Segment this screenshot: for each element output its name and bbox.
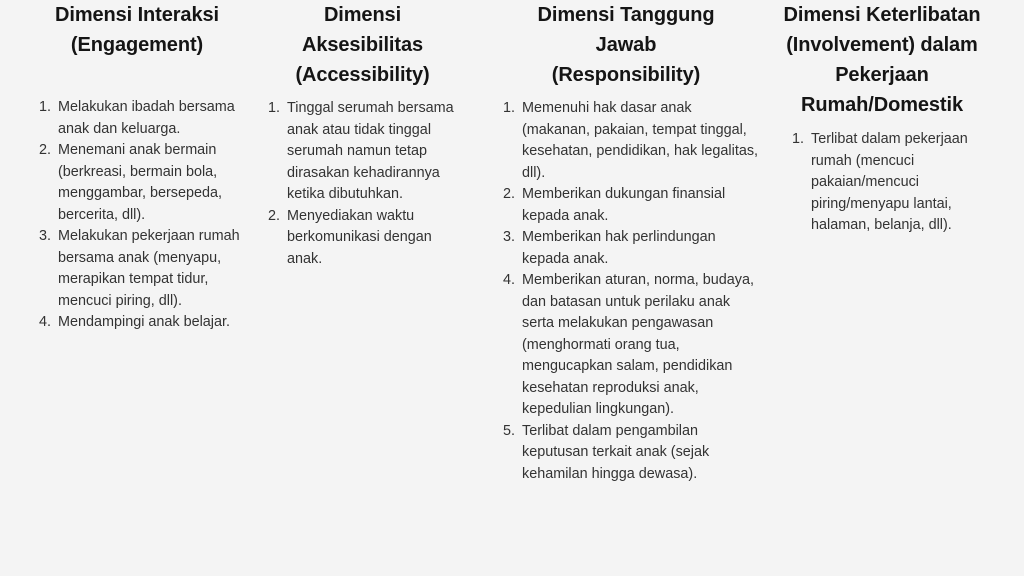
column-heading: Dimensi Aksesibilitas (Accessibility) <box>255 0 470 90</box>
list-item: Menyediakan waktu berkomunikasi dengan a… <box>268 206 470 271</box>
list-item: Menemani anak bermain (berkreasi, bermai… <box>39 140 252 226</box>
list-item: Terlibat dalam pekerjaan rumah (mencuci … <box>792 129 1002 237</box>
column-list-wrapper: Terlibat dalam pekerjaan rumah (mencuci … <box>762 129 1002 237</box>
dimension-item-list: Melakukan ibadah bersama anak dan keluar… <box>39 97 252 334</box>
column-heading: Dimensi Keterlibatan (Involvement) dalam… <box>762 0 1002 120</box>
column-list-wrapper: Melakukan ibadah bersama anak dan keluar… <box>22 97 252 334</box>
dimension-column-involvement: Dimensi Keterlibatan (Involvement) dalam… <box>762 0 1002 237</box>
list-item: Melakukan ibadah bersama anak dan keluar… <box>39 97 252 140</box>
slide-canvas: Dimensi Interaksi (Engagement) Melakukan… <box>0 0 1024 576</box>
dimension-column-engagement: Dimensi Interaksi (Engagement) Melakukan… <box>22 0 252 334</box>
column-heading: Dimensi Tanggung Jawab (Responsibility) <box>492 0 760 90</box>
column-list-wrapper: Tinggal serumah bersama anak atau tidak … <box>255 98 470 270</box>
list-item: Memenuhi hak dasar anak (makanan, pakaia… <box>503 98 760 184</box>
dimension-item-list: Terlibat dalam pekerjaan rumah (mencuci … <box>792 129 1002 237</box>
list-item: Terlibat dalam pengambilan keputusan ter… <box>503 421 760 486</box>
list-item: Memberikan aturan, norma, budaya, dan ba… <box>503 270 760 421</box>
column-list-wrapper: Memenuhi hak dasar anak (makanan, pakaia… <box>492 98 760 485</box>
dimension-column-responsibility: Dimensi Tanggung Jawab (Responsibility) … <box>492 0 760 485</box>
list-item: Memberikan hak perlindungan kepada anak. <box>503 227 760 270</box>
list-item: Tinggal serumah bersama anak atau tidak … <box>268 98 470 206</box>
list-item: Melakukan pekerjaan rumah bersama anak (… <box>39 226 252 312</box>
column-heading: Dimensi Interaksi (Engagement) <box>22 0 252 60</box>
list-item: Mendampingi anak belajar. <box>39 312 252 334</box>
dimension-item-list: Tinggal serumah bersama anak atau tidak … <box>268 98 470 270</box>
list-item: Memberikan dukungan finansial kepada ana… <box>503 184 760 227</box>
dimension-column-accessibility: Dimensi Aksesibilitas (Accessibility) Ti… <box>255 0 470 270</box>
dimension-item-list: Memenuhi hak dasar anak (makanan, pakaia… <box>503 98 760 485</box>
